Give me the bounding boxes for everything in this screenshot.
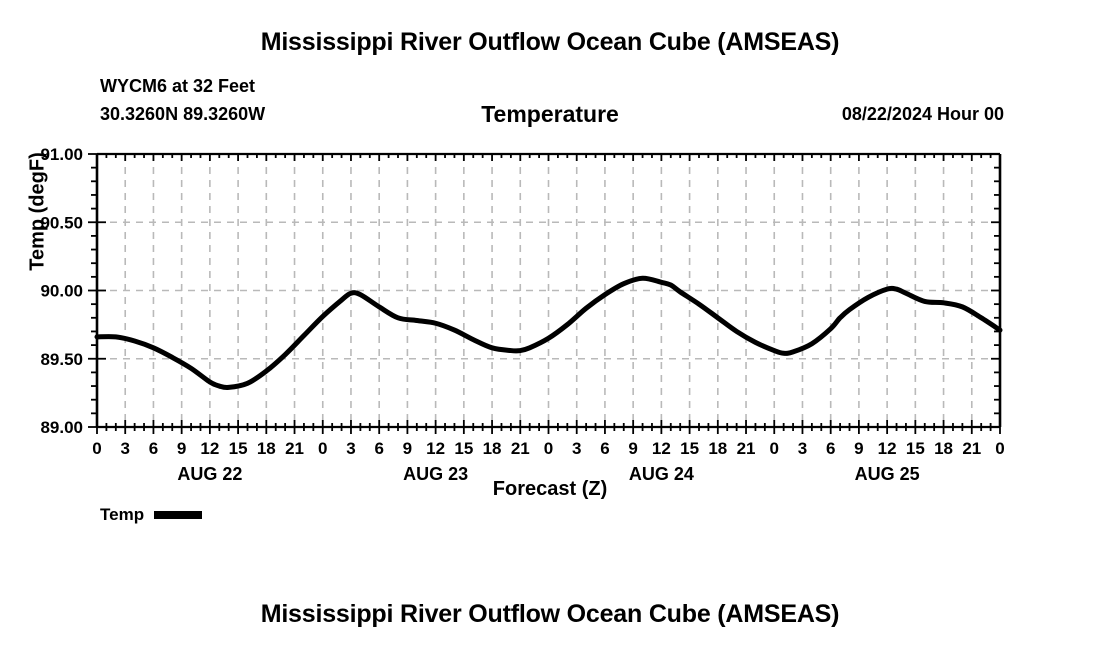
x-tick-label: 15 (229, 439, 248, 458)
x-axis-day-label: AUG 23 (403, 464, 468, 484)
legend-line-swatch (154, 511, 202, 519)
temperature-line-chart: 91.0090.5090.0089.5089.00036912151821036… (0, 0, 1100, 650)
x-tick-label: 12 (652, 439, 671, 458)
y-tick-label: 90.00 (40, 282, 83, 301)
x-tick-label: 9 (628, 439, 637, 458)
x-tick-label: 15 (906, 439, 925, 458)
x-tick-label: 21 (962, 439, 981, 458)
x-tick-label: 6 (374, 439, 383, 458)
x-tick-label: 0 (770, 439, 779, 458)
x-tick-label: 18 (257, 439, 276, 458)
x-tick-label: 12 (878, 439, 897, 458)
x-tick-label: 0 (318, 439, 327, 458)
x-tick-label: 3 (120, 439, 129, 458)
x-tick-label: 12 (426, 439, 445, 458)
x-tick-label: 9 (403, 439, 412, 458)
x-tick-label: 3 (798, 439, 807, 458)
x-axis-day-label: AUG 24 (629, 464, 694, 484)
temp-series-line (97, 278, 1000, 387)
x-tick-label: 18 (934, 439, 953, 458)
x-tick-label: 21 (511, 439, 530, 458)
chart-title-bottom: Mississippi River Outflow Ocean Cube (AM… (0, 600, 1100, 629)
x-tick-label: 6 (826, 439, 835, 458)
x-tick-label: 15 (454, 439, 473, 458)
y-tick-label: 90.50 (40, 213, 83, 232)
x-tick-label: 15 (680, 439, 699, 458)
x-tick-label: 6 (600, 439, 609, 458)
x-tick-label: 6 (149, 439, 158, 458)
x-axis-day-label: AUG 22 (177, 464, 242, 484)
x-tick-label: 3 (572, 439, 581, 458)
y-tick-label: 91.00 (40, 145, 83, 164)
x-tick-label: 9 (854, 439, 863, 458)
x-tick-label: 3 (346, 439, 355, 458)
legend: Temp (100, 505, 202, 525)
x-tick-label: 0 (995, 439, 1004, 458)
x-tick-label: 18 (708, 439, 727, 458)
y-tick-label: 89.00 (40, 418, 83, 437)
x-tick-label: 9 (177, 439, 186, 458)
x-tick-label: 21 (285, 439, 304, 458)
x-tick-label: 18 (483, 439, 502, 458)
x-tick-label: 21 (737, 439, 756, 458)
x-tick-label: 12 (200, 439, 219, 458)
legend-label: Temp (100, 505, 144, 525)
x-axis-day-label: AUG 25 (855, 464, 920, 484)
x-tick-label: 0 (92, 439, 101, 458)
y-tick-label: 89.50 (40, 350, 83, 369)
x-tick-label: 0 (544, 439, 553, 458)
